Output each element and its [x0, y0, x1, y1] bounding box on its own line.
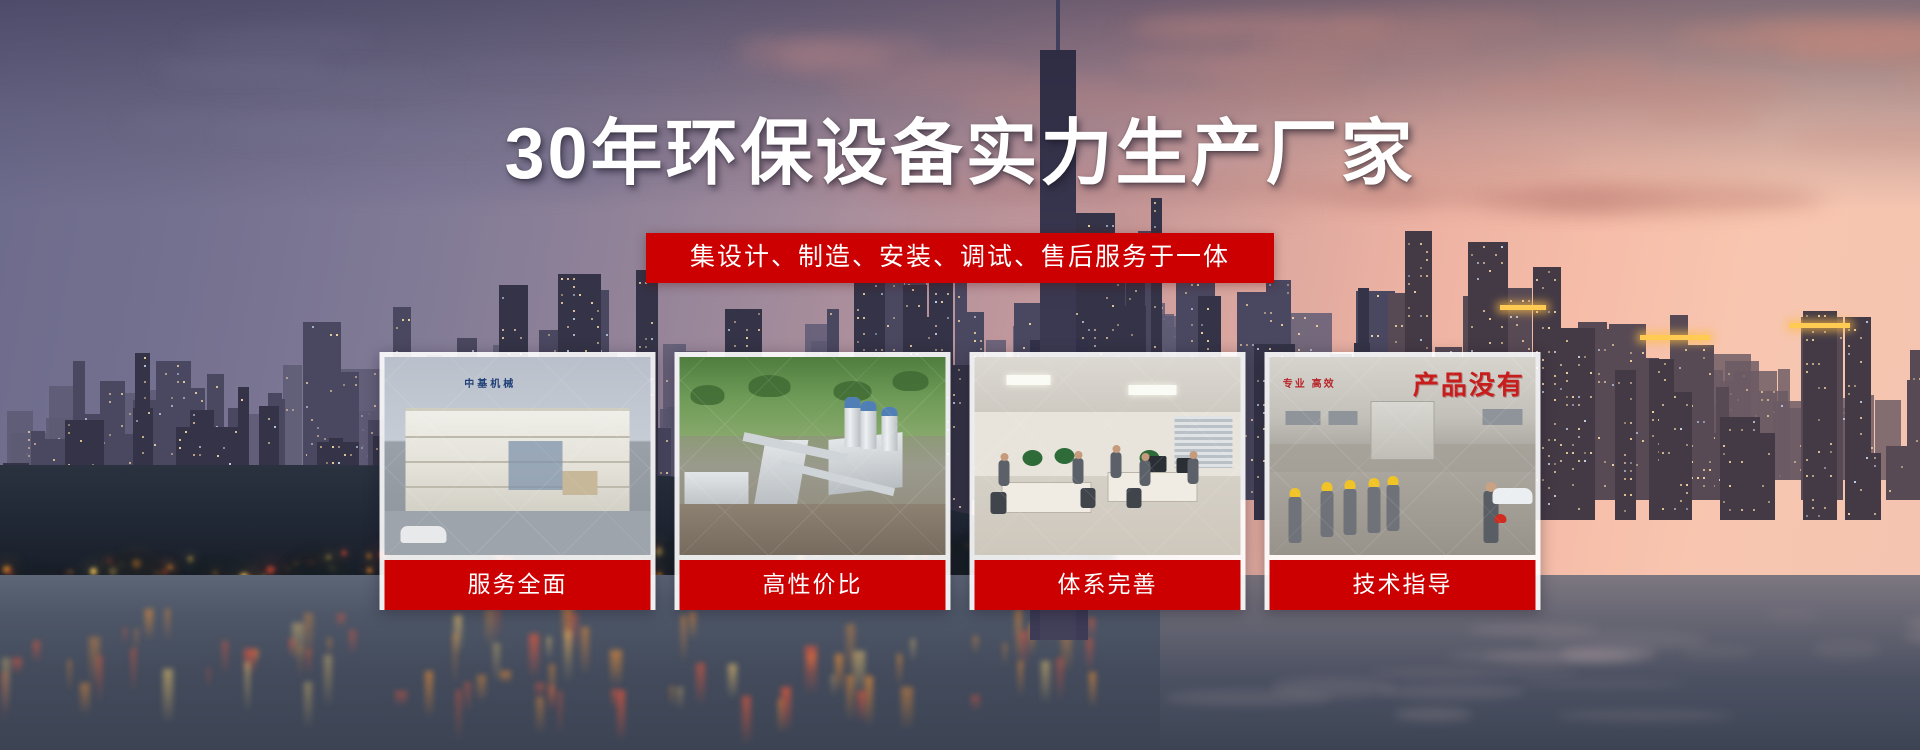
feature-card[interactable]: 产品没有 专业 高效 技术指导 — [1265, 352, 1541, 610]
card-caption: 服务全面 — [385, 560, 651, 610]
feature-card-list: 中基机械 服务全面 — [380, 352, 1541, 610]
watermark-pattern — [975, 357, 1241, 555]
feature-card[interactable]: 中基机械 服务全面 — [380, 352, 656, 610]
card-thumbnail — [680, 357, 946, 555]
card-thumbnail: 产品没有 专业 高效 — [1270, 357, 1536, 555]
hero-banner: 30年环保设备实力生产厂家 集设计、制造、安装、调试、售后服务于一体 中基机械 — [0, 0, 1920, 750]
card-caption: 高性价比 — [680, 560, 946, 610]
watermark-pattern — [385, 357, 651, 555]
feature-card[interactable]: 体系完善 — [970, 352, 1246, 610]
card-caption: 体系完善 — [975, 560, 1241, 610]
feature-card[interactable]: 高性价比 — [675, 352, 951, 610]
card-thumbnail — [975, 357, 1241, 555]
banner-headline: 30年环保设备实力生产厂家 — [0, 118, 1920, 190]
banner-subtitle: 集设计、制造、安装、调试、售后服务于一体 — [646, 233, 1274, 283]
watermark-pattern — [680, 357, 946, 555]
watermark-pattern — [1270, 357, 1536, 555]
card-thumbnail: 中基机械 — [385, 357, 651, 555]
card-caption: 技术指导 — [1270, 560, 1536, 610]
